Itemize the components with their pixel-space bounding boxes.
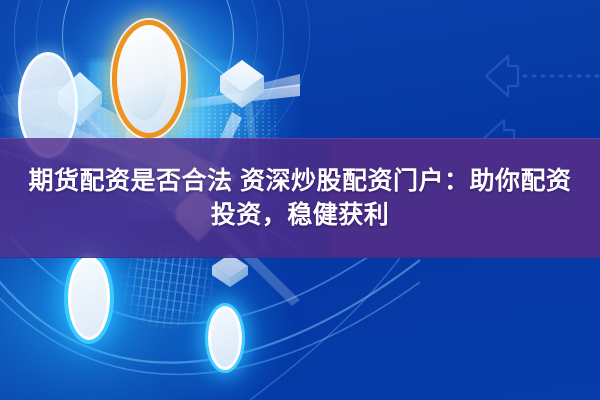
headline-line-2: 投资，稳健获利 (0, 200, 600, 231)
headline-line-1: 期货配资是否合法 资深炒股配资门户：助你配资 (0, 166, 600, 197)
cyan-glow-oval-node-small (208, 306, 242, 370)
headline-block: 期货配资是否合法 资深炒股配资门户：助你配资 投资，稳健获利 (0, 138, 600, 258)
cyan-glow-oval-node (68, 256, 110, 340)
crystal-node-upper-right (220, 60, 264, 108)
orange-oval-inner-fill (120, 28, 168, 120)
promo-banner: 期货配资是否合法 资深炒股配资门户：助你配资 投资，稳健获利 (0, 0, 600, 400)
